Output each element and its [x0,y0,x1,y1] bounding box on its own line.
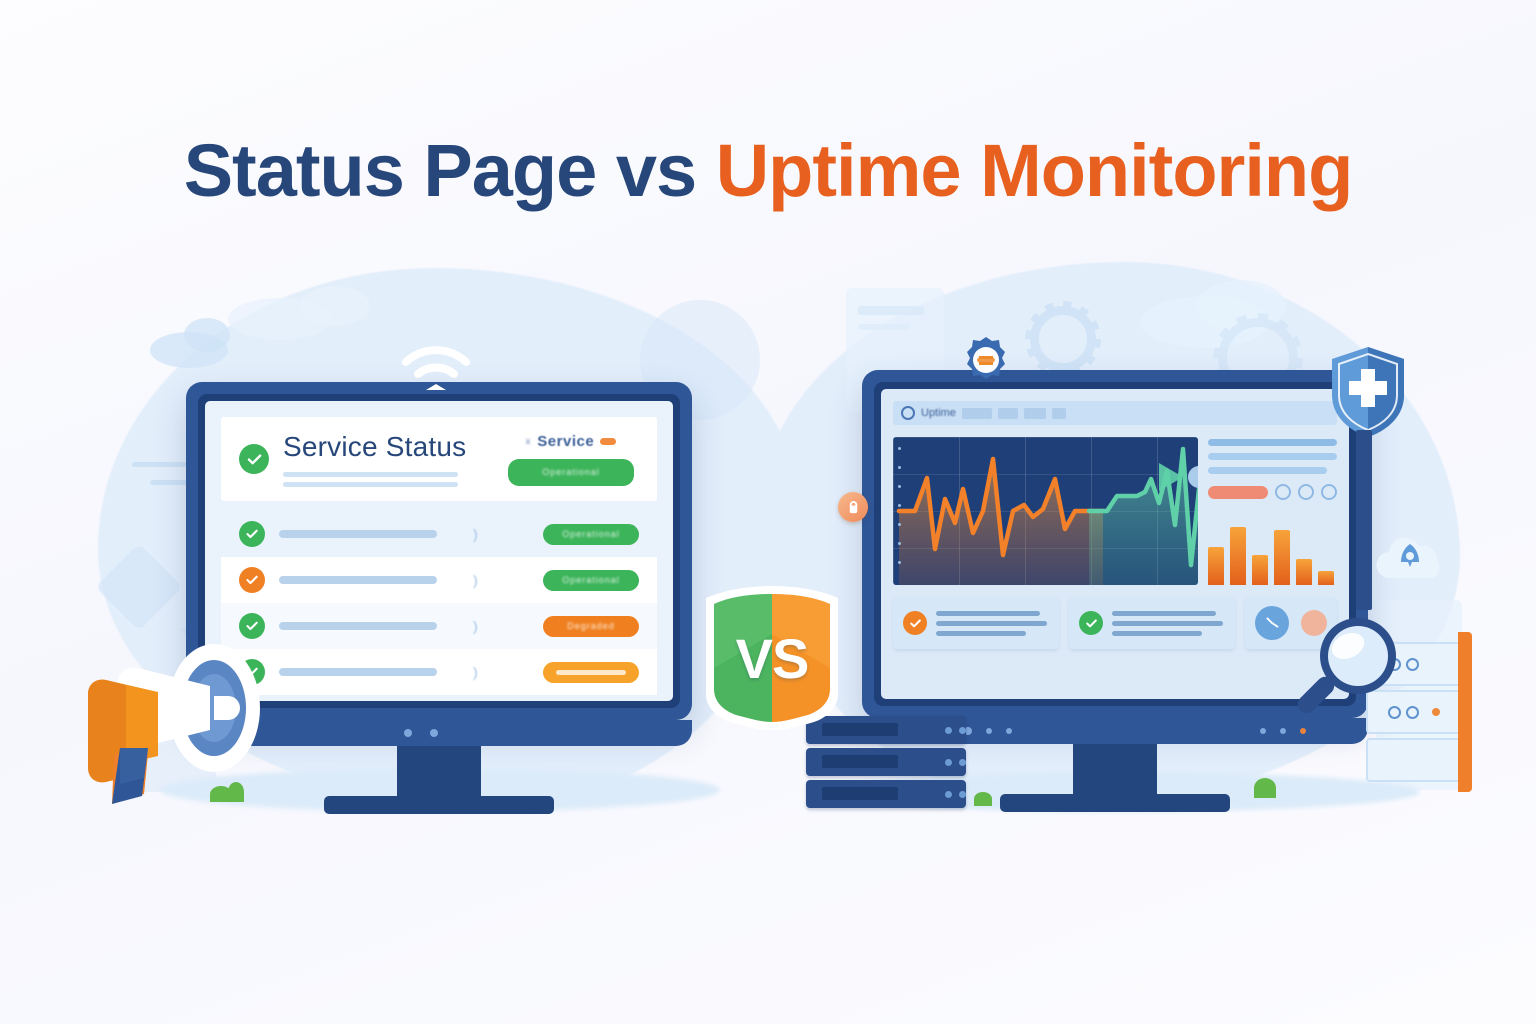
placeholder-line [1112,621,1223,626]
rocket-cloud-icon [1372,528,1448,590]
monitor-stand-neck [1073,744,1157,794]
power-indicator-icon [1280,728,1286,734]
status-card-lines [936,611,1049,636]
rack-accent-edge [1458,632,1472,792]
power-indicator-icon [1260,728,1266,734]
bar [1274,530,1290,585]
header-status-pill: Operational [508,459,634,486]
service-row[interactable]: ) Operational [221,511,657,557]
title-dark-part: Status Page vs [184,129,716,212]
background-line [858,306,924,315]
status-card[interactable] [1069,597,1235,649]
vs-badge: VS [686,582,858,734]
megaphone-icon [62,636,312,816]
grass-decoration [1254,778,1276,798]
service-status-pill[interactable]: Degraded [543,616,639,637]
monitor-stand-base [1000,794,1230,812]
service-uptime-value: ) [473,618,529,634]
magnifying-glass-icon [1288,608,1408,728]
brand-text: Service [537,433,594,450]
bar [1252,555,1268,585]
vs-badge-label: VS [686,582,858,734]
shield-plus-icon [1326,344,1410,440]
power-indicator-icon [1006,728,1012,734]
background-cloud-icon [184,318,230,352]
placeholder-line [1112,611,1216,616]
placeholder-line [936,631,1026,636]
background-line [858,324,910,330]
monitor-stand-neck [397,746,481,796]
status-card-lines [1112,611,1225,636]
monitor-stand-base [324,796,554,814]
title-orange-part: Uptime Monitoring [716,129,1353,212]
service-status-pill-label: Operational [562,529,620,539]
bar [1318,571,1334,585]
check-circle-icon [239,444,269,474]
bar [1208,547,1224,585]
service-uptime-value: ) [473,572,529,588]
service-name-placeholder [279,576,437,584]
dashboard-topbar-label: Uptime [921,407,956,419]
topbar-chip [962,408,992,419]
header-status-pill-label: Operational [542,467,600,477]
topbar-chip [998,408,1018,419]
server-unit [806,780,966,808]
power-indicator-icon [986,728,992,734]
bar [1296,559,1312,585]
power-indicator-icon [430,729,438,737]
placeholder-line [1112,631,1202,636]
service-uptime-value: ) [473,526,529,542]
wifi-icon [396,336,476,396]
bar [1230,527,1246,585]
alert-pill[interactable] [1208,486,1268,499]
metric-ring-icon [1275,484,1291,500]
sidebar-bar-chart [1208,523,1337,585]
service-name-placeholder [279,622,437,630]
service-status-pill-label [556,670,625,675]
power-indicator-icon [404,729,412,737]
grass-decoration [974,792,992,806]
background-gear-icon [1030,306,1096,372]
check-circle-icon [239,521,265,547]
shield-pole [1356,430,1372,610]
status-page-title: Service Status [283,431,489,463]
service-status-pill[interactable]: Operational [543,524,639,545]
check-circle-icon [239,567,265,593]
sidebar-placeholder-bar [1208,453,1337,460]
page-title: Status Page vs Uptime Monitoring [0,128,1536,213]
monitor-bezel: Uptime [874,382,1356,706]
service-status-pill-label: Operational [562,575,620,585]
service-status-pill[interactable]: Operational [543,570,639,591]
uptime-line-chart [893,437,1198,585]
metric-ring-icon [1298,484,1314,500]
grass-decoration [228,782,244,802]
sidebar-placeholder-bar [1208,439,1337,446]
check-circle-icon [903,611,927,635]
status-card[interactable] [893,597,1059,649]
lock-icon [838,492,868,522]
dashboard-topbar: Uptime [893,401,1337,425]
service-status-pill[interactable] [543,662,639,683]
brand-mark-icon [600,438,616,445]
background-cloud-icon [300,286,370,326]
service-status-pill-label: Degraded [567,621,615,631]
rack-alert-dot-icon [1432,708,1440,716]
placeholder-bar [283,482,458,487]
placeholder-line [936,611,1040,616]
topbar-chip [1052,408,1066,419]
gear-badge-icon [960,334,1012,386]
dashboard-sidebar [1208,437,1337,585]
placeholder-line [936,621,1047,626]
placeholder-bar [283,472,458,477]
service-row[interactable]: ) Operational [221,557,657,603]
illustration-canvas: Status Page vs Uptime Monitoring [0,0,1536,1024]
chart-y-axis-ticks [898,447,901,564]
status-dot-icon [901,406,915,420]
check-circle-icon [1079,611,1103,635]
uptime-dashboard-screen: Uptime [881,389,1349,699]
topbar-chip [1024,408,1046,419]
sidebar-placeholder-bar [1208,467,1327,474]
chart-svg [893,437,1198,585]
status-page-header: Service Status x Service Operation [221,417,657,501]
service-name-placeholder [279,530,437,538]
server-unit [806,748,966,776]
power-indicator-icon [1300,728,1306,734]
rack-card [1366,738,1462,782]
service-uptime-value: ) [473,664,529,680]
brand-prefix: x [526,436,532,446]
metric-ring-icon [1321,484,1337,500]
gauge-icon [1255,606,1289,640]
